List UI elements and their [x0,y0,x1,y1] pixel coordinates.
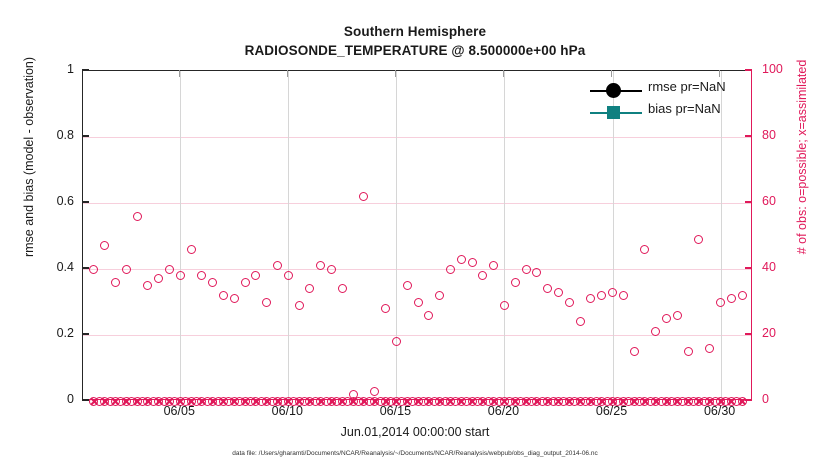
obs-possible-marker [424,311,433,320]
obs-possible-marker [370,387,379,396]
gridline-horizontal [83,203,751,204]
legend-label-rmse: rmse pr=NaN [648,79,726,94]
x-tick [179,70,180,77]
x-axis-tick-label: 06/25 [582,404,642,418]
y-axis-left-tick-label: 0.4 [30,260,74,274]
gridline-horizontal [83,137,751,138]
obs-possible-marker [727,294,736,303]
gridline-horizontal [83,335,751,336]
y-axis-left-tick-label: 0 [30,392,74,406]
legend-item-rmse: rmse pr=NaN [590,80,750,102]
filled-square-icon [607,106,620,119]
y-axis-left-tick-label: 0.2 [30,326,74,340]
y-axis-left-tick-label: 1 [30,62,74,76]
legend-item-bias: bias pr=NaN [590,102,750,124]
y-tick-right [745,201,752,202]
x-tick [287,70,288,77]
y-tick-left [82,135,89,136]
obs-possible-marker [673,311,682,320]
obs-possible-marker [165,265,174,274]
legend-label-bias: bias pr=NaN [648,101,721,116]
y-axis-left-tick-label: 0.8 [30,128,74,142]
obs-possible-marker [133,212,142,221]
obs-possible-marker [176,271,185,280]
data-file-caption: data file: /Users/gharamti/Documents/NCA… [0,450,830,457]
y-tick-right [745,333,752,334]
x-axis-tick-label: 06/10 [257,404,317,418]
gridline-vertical [288,71,289,399]
x-axis-title: Jun.01,2014 00:00:00 start [0,425,830,439]
y-tick-left [82,333,89,334]
figure-canvas: Southern Hemisphere RADIOSONDE_TEMPERATU… [0,0,830,470]
y-axis-right-tick-label: 20 [762,326,812,340]
obs-possible-marker [187,245,196,254]
obs-possible-marker [468,258,477,267]
obs-possible-marker [414,298,423,307]
obs-possible-marker [619,291,628,300]
filled-circle-icon [606,83,621,98]
obs-possible-marker [716,298,725,307]
obs-possible-marker [435,291,444,300]
obs-possible-marker [738,291,747,300]
x-axis-tick-label: 06/05 [149,404,209,418]
x-axis-tick-label: 06/20 [473,404,533,418]
obs-possible-marker [403,281,412,290]
obs-possible-marker [208,278,217,287]
x-tick [611,70,612,77]
y-tick-left [82,201,89,202]
obs-possible-marker [630,347,639,356]
obs-possible-marker [511,278,520,287]
figure-title: Southern Hemisphere RADIOSONDE_TEMPERATU… [0,22,830,60]
obs-possible-marker [89,265,98,274]
obs-possible-marker [111,278,120,287]
x-tick [395,70,396,77]
y-tick-right [745,69,752,70]
gridline-vertical [396,71,397,399]
y-tick-right [745,399,752,400]
obs-possible-marker [262,298,271,307]
obs-possible-marker [608,288,617,297]
obs-possible-marker [230,294,239,303]
obs-possible-marker [705,344,714,353]
obs-possible-marker [554,288,563,297]
title-line-1: Southern Hemisphere [0,22,830,41]
y-tick-right [745,135,752,136]
x-axis-tick-label: 06/15 [365,404,425,418]
gridline-vertical [180,71,181,399]
obs-possible-marker [522,265,531,274]
y-axis-right-tick-label: 0 [762,392,812,406]
obs-possible-marker [576,317,585,326]
x-tick [503,70,504,77]
title-line-2: RADIOSONDE_TEMPERATURE @ 8.500000e+00 hP… [0,41,830,60]
obs-possible-marker [392,337,401,346]
y-tick-left [82,267,89,268]
obs-possible-marker [684,347,693,356]
obs-possible-marker [565,298,574,307]
x-axis-tick-label: 06/30 [690,404,750,418]
obs-possible-marker [327,265,336,274]
obs-possible-marker [241,278,250,287]
y-tick-left [82,69,89,70]
y-axis-right-title: # of obs: o=possible; x=assimilated [795,0,809,317]
obs-possible-marker [500,301,509,310]
obs-possible-marker [219,291,228,300]
gridline-horizontal [83,269,751,270]
gridline-vertical [504,71,505,399]
legend: rmse pr=NaN bias pr=NaN [590,80,750,124]
obs-possible-marker [662,314,671,323]
obs-possible-marker [122,265,131,274]
obs-possible-marker [457,255,466,264]
y-tick-left [82,399,89,400]
y-axis-left-title: rmse and bias (model - observation) [22,0,36,317]
obs-possible-marker [295,301,304,310]
x-tick [719,70,720,77]
obs-possible-marker [446,265,455,274]
obs-possible-marker [284,271,293,280]
y-axis-left-tick-label: 0.6 [30,194,74,208]
y-tick-right [745,267,752,268]
